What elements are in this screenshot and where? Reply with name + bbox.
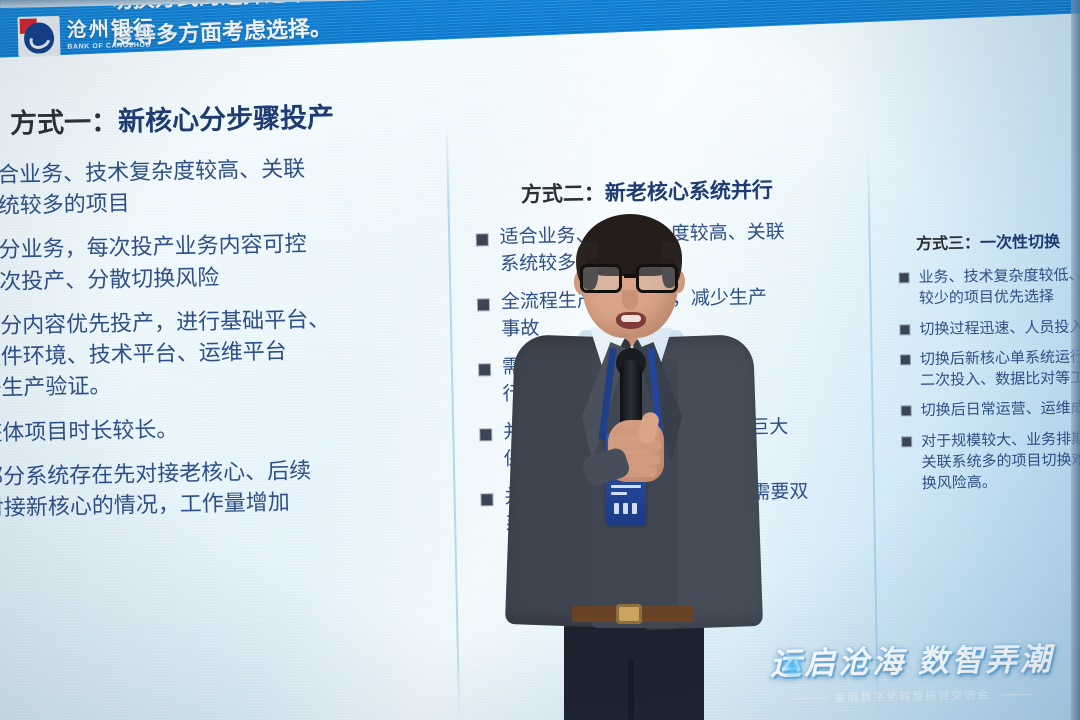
list-item: 整体项目时长较长。 — [0, 407, 465, 448]
speaker-trousers — [564, 614, 704, 720]
speaker-presenter — [486, 208, 786, 720]
bank-logo: 沧州银行 BANK OF CANGZHOU — [17, 10, 178, 60]
list-item: 部分内容优先投产，进行基础平台、 硬件环境、技术平台、运维平台 等生产验证。 — [0, 301, 464, 404]
lens-left — [580, 264, 622, 293]
badge-line — [623, 503, 628, 514]
event-subtitle: 金融数字化转型研讨交流会 — [834, 687, 990, 706]
slide-column-three: 方式三：一次性切换 业务、技术复杂度较低、关联系统 较少的项目优先选择 切换过程… — [888, 225, 1080, 504]
bank-name-cn: 沧州银行 — [67, 19, 155, 41]
conference-photo-scene: 方式一：新核心分步骤投产 适合业务、技术复杂度较高、关联 系统较多的项目 拆分业… — [0, 0, 1080, 720]
list-item: 拆分业务，每次投产业务内容可控 多次投产、分散切换风险 — [0, 225, 462, 297]
lens-right — [636, 264, 678, 293]
screen-bezel-right — [1071, 0, 1080, 720]
list-item: 适合业务、技术复杂度较高、关联 系统较多的项目 — [0, 150, 460, 222]
speaker-nose — [622, 290, 638, 310]
bullet-square-icon — [900, 273, 909, 282]
bank-logo-text: 沧州银行 BANK OF CANGZHOU — [67, 19, 156, 51]
glasses-bridge — [624, 274, 638, 278]
badge-line — [611, 485, 641, 488]
event-watermark: 运启沧海 数智弄潮 金融数字化转型研讨交流会 — [761, 633, 1062, 706]
column-one-bullet-list: 适合业务、技术复杂度较高、关联 系统较多的项目 拆分业务，每次投产业务内容可控 … — [0, 150, 466, 524]
bullet-square-icon — [901, 355, 910, 364]
bullet-square-icon — [900, 325, 909, 334]
list-item: 部分系统存在先对接老核心、后续 对接新核心的情况，工作量增加 — [0, 452, 466, 524]
bullet-square-icon — [902, 407, 911, 416]
list-item: 切换后新核心单系统运行，无需 二次投入、数据比对等工作 — [920, 344, 1080, 391]
speaker-leg-seam — [628, 660, 634, 720]
speaker-teeth — [621, 315, 641, 322]
slide-column-one: 方式一：新核心分步骤投产 适合业务、技术复杂度较高、关联 系统较多的项目 拆分业… — [0, 93, 466, 538]
list-item: 切换过程迅速、人员投入少 — [919, 314, 1080, 340]
column-three-bullet-list: 业务、技术复杂度较低、关联系统 较少的项目优先选择 切换过程迅速、人员投入少 切… — [918, 262, 1080, 494]
column-three-heading: 方式三：一次性切换 — [916, 225, 1080, 254]
column-one-heading: 方式一：新核心分步骤投产 — [10, 93, 459, 141]
event-slogan: 运启沧海 数智弄潮 — [761, 633, 1062, 683]
list-item: 业务、技术复杂度较低、关联系统 较少的项目优先选择 — [918, 262, 1080, 309]
list-item: 切换后日常运营、运维成本低 — [921, 396, 1080, 422]
column-two-heading: 方式二：新老核心系统并行 — [521, 172, 863, 208]
bank-name-en: BANK OF CANGZHOU — [67, 42, 155, 51]
badge-line — [632, 503, 637, 514]
bullet-square-icon — [902, 437, 911, 446]
badge-line — [614, 503, 619, 514]
bank-logo-mark-icon — [18, 16, 61, 57]
rule-right — [998, 693, 1032, 695]
rule-left — [792, 697, 826, 699]
list-item: 对于规模较大、业务排期紧、 关联系统多的项目切换难度高，切 换风险高。 — [921, 426, 1080, 495]
badge-line — [611, 492, 627, 495]
speaker-belt-buckle — [616, 604, 642, 624]
